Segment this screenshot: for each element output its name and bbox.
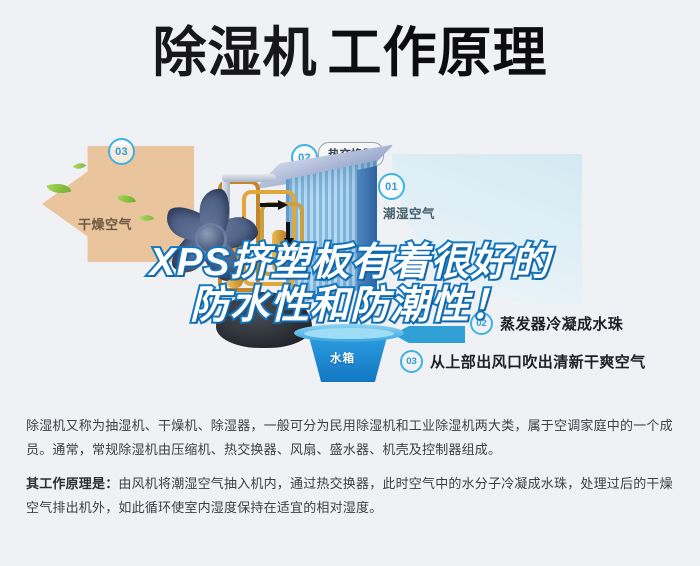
page-title: 除湿机工作原理 xyxy=(0,22,700,86)
step-caption-03: 03 从上部出风口吹出清新干爽空气 xyxy=(400,350,646,373)
step-caption-02: 02 蒸发器冷凝成水珠 xyxy=(470,312,623,335)
infographic-page: 除湿机工作原理 01 潮湿空气 干燥空气 03 02 热交换器 xyxy=(0,0,700,566)
step-badge-02: 02 xyxy=(470,312,493,335)
body-copy: 除湿机又称为抽湿机、干燥机、除湿器，一般可分为民用除湿机和工业除湿机两大类，属于… xyxy=(26,414,676,520)
water-tank-water-surface xyxy=(304,328,394,339)
title-text: 除湿机工作原理 xyxy=(153,22,548,86)
flow-arrow-right-icon xyxy=(278,200,288,210)
coil-cylinder xyxy=(272,230,287,272)
dry-air-label: 干燥空气 xyxy=(78,214,132,233)
water-tank: 水箱 xyxy=(294,324,404,382)
water-tank-label: 水箱 xyxy=(330,350,355,366)
paragraph-2-rest: 由风机将潮湿空气抽入机内，通过热交换器，此时空气中的水分子冷凝成水珠，处理过后的… xyxy=(26,476,673,515)
title-part-2: 工作原理 xyxy=(328,23,548,83)
heat-exchanger-side-panel xyxy=(357,166,377,298)
badge-03: 03 xyxy=(108,138,135,165)
leaf-icon xyxy=(73,159,87,172)
paragraph-1: 除湿机又称为抽湿机、干燥机、除湿器，一般可分为民用除湿机和工业除湿机两大类，属于… xyxy=(26,414,676,462)
fan-assembly xyxy=(162,176,266,280)
dehumidifier-diagram: 01 潮湿空气 干燥空气 03 02 热交换器 xyxy=(0,118,700,408)
paragraph-2-lead: 其工作原理是： xyxy=(26,476,118,491)
fan-hub xyxy=(198,226,224,252)
step-badge-03: 03 xyxy=(400,350,423,373)
airflow-swoosh-fill xyxy=(392,154,582,304)
flow-arrow-down-icon xyxy=(284,238,294,248)
paragraph-2: 其工作原理是：由风机将潮湿空气抽入机内，通过热交换器，此时空气中的水分子冷凝成水… xyxy=(26,472,676,520)
flow-arrow-down-stem xyxy=(286,222,290,238)
step-text-03: 从上部出风口吹出清新干爽空气 xyxy=(430,351,646,372)
dehumidifier-internals: 水箱 xyxy=(168,142,398,372)
title-part-1: 除湿机 xyxy=(153,23,318,83)
step-text-02: 蒸发器冷凝成水珠 xyxy=(500,313,623,334)
